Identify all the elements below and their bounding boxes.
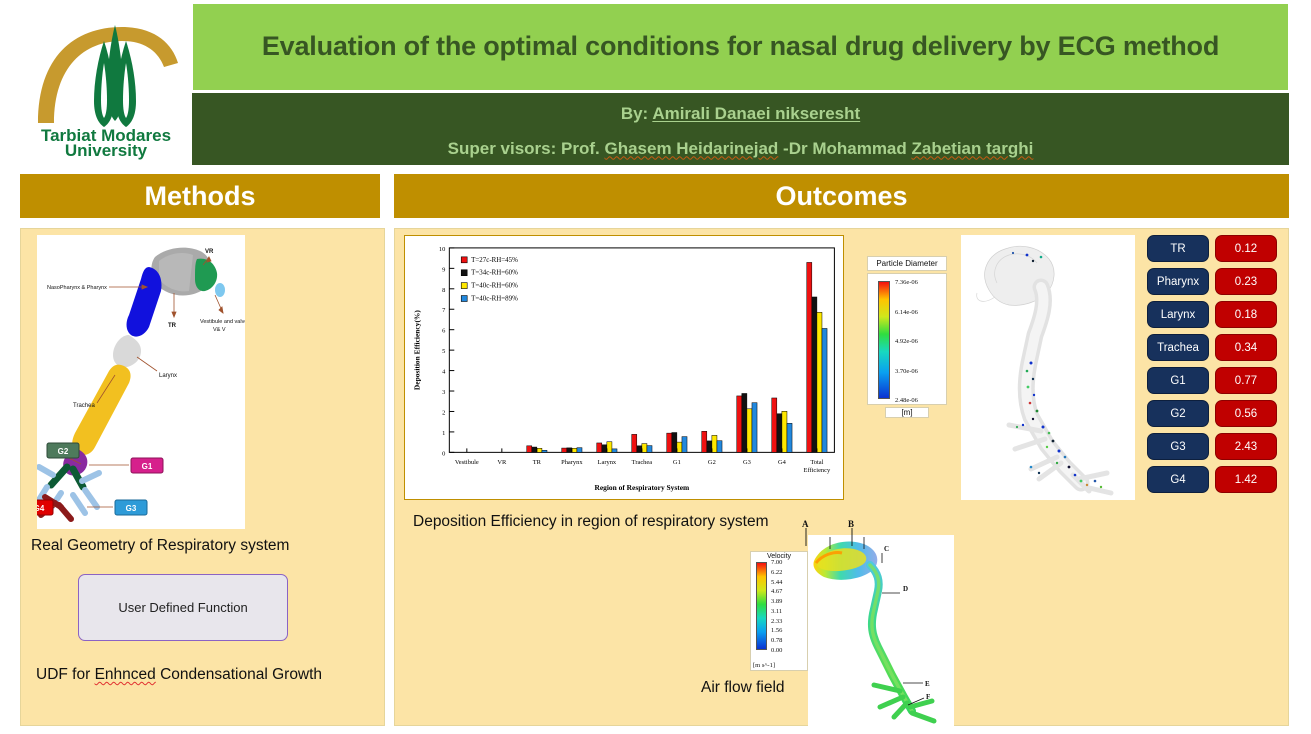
airflow-marker-b-label: B [848, 519, 854, 529]
particle-colorbar-tick: 4.92e-06 [895, 338, 918, 345]
x-axis-tick: Efficiency [804, 467, 831, 474]
table-row: G10.77 [1147, 367, 1281, 394]
table-row: G32.43 [1147, 433, 1281, 460]
airflow-field-figure: D E F C [808, 535, 954, 727]
legend-swatch [461, 270, 467, 276]
deposition-efficiency-caption: Deposition Efficiency in region of respi… [413, 513, 769, 531]
y-axis-tick: 1 [442, 430, 445, 437]
chart-bar [672, 433, 677, 453]
particle-deposition-figure [961, 235, 1135, 500]
table-cell-value: 0.34 [1215, 334, 1277, 361]
velocity-colorbar-gradient [756, 562, 767, 650]
label-g1: G1 [142, 462, 153, 471]
page-title: Evaluation of the optimal conditions for… [250, 32, 1231, 62]
x-axis-tick: G2 [708, 459, 716, 466]
airflow-caption: Air flow field [701, 679, 785, 697]
label-box-g3: G3 [115, 500, 147, 515]
table-row: Larynx0.18 [1147, 301, 1281, 328]
y-axis-tick: 2 [442, 409, 445, 416]
chart-bar [602, 445, 607, 453]
section-header-outcomes: Outcomes [394, 174, 1289, 218]
label-vestibule-1: Vestibule and valve [200, 319, 245, 325]
chart-bar [677, 442, 682, 452]
chart-bar [532, 447, 537, 452]
table-cell-region: TR [1147, 235, 1209, 262]
chart-bar [567, 448, 572, 452]
table-cell-value: 2.43 [1215, 433, 1277, 460]
airflow-marker-e: E [925, 680, 930, 688]
label-box-g2: G2 [47, 443, 79, 458]
label-vr: VR [205, 249, 214, 255]
table-cell-region: G2 [1147, 400, 1209, 427]
legend-label: T=40c-RH=89% [471, 295, 518, 303]
chart-bar [607, 442, 612, 453]
table-row: Pharynx0.23 [1147, 268, 1281, 295]
supervisor-name-1: Ghasem Heidarinejad [604, 139, 778, 158]
bottom-spacer [0, 728, 1311, 734]
particle-colorbar-tick: 7.36e-06 [895, 279, 918, 286]
velocity-colorbar: Velocity 7.006.225.444.673.893.112.331.5… [750, 551, 808, 671]
table-cell-value: 0.77 [1215, 367, 1277, 394]
supervisor-prefix: Super visors: Prof. [448, 139, 605, 158]
table-cell-value: 0.12 [1215, 235, 1277, 262]
chart-bar [807, 262, 812, 452]
chart-bar [667, 433, 672, 452]
section-header-methods: Methods [20, 174, 380, 218]
udf-box: User Defined Function [78, 574, 288, 641]
table-cell-value: 0.23 [1215, 268, 1277, 295]
velocity-colorbar-tick: 3.11 [771, 608, 782, 615]
label-g4: G4 [37, 504, 45, 513]
y-axis-tick: 10 [439, 246, 445, 253]
chart-bar [752, 403, 757, 453]
particle-colorbar-title: Particle Diameter [867, 256, 947, 271]
airflow-top-markers: A B [790, 518, 910, 548]
author-bar: By: Amirali Danaei nikseresht Super viso… [192, 93, 1289, 165]
methods-panel: NasoPharynx & Pharynx VR TR Vestibule an… [20, 228, 385, 726]
chart-bar [822, 328, 827, 452]
legend-label: T=27c-RH=45% [471, 256, 518, 264]
chart-bar [642, 444, 647, 453]
chart-bar [542, 450, 547, 452]
x-axis-tick: Larynx [598, 459, 617, 466]
chart-bar [787, 423, 792, 452]
chart-bar [637, 446, 642, 453]
particle-diameter-colorbar: Particle Diameter 7.36e-066.14e-064.92e-… [861, 256, 953, 431]
section-title-outcomes: Outcomes [775, 183, 907, 210]
particle-colorbar-body: 7.36e-066.14e-064.92e-063.70e-062.48e-06 [867, 273, 947, 405]
x-axis-tick: G3 [743, 459, 751, 466]
table-row: TR0.12 [1147, 235, 1281, 262]
author-name: Amirali Danaei nikseresht [652, 104, 860, 123]
chart-bar [742, 393, 747, 452]
chart-bar [647, 446, 652, 453]
deposition-results-table: TR0.12Pharynx0.23Larynx0.18Trachea0.34G1… [1147, 235, 1281, 500]
x-axis-tick: TR [533, 459, 542, 466]
particle-colorbar-tick: 3.70e-06 [895, 368, 918, 375]
chart-bar [577, 448, 582, 453]
geometry-caption: Real Geometry of Respiratory system [31, 537, 289, 555]
label-trachea: Trachea [73, 403, 95, 409]
y-axis-tick: 9 [442, 266, 445, 273]
chart-bar [562, 448, 567, 452]
x-axis-label: Region of Respiratory System [594, 483, 690, 492]
author-line: By: Amirali Danaei nikseresht [192, 104, 1289, 124]
velocity-colorbar-body: 7.006.225.444.673.893.112.331.560.780.00 [751, 560, 807, 660]
table-cell-region: Pharynx [1147, 268, 1209, 295]
velocity-colorbar-tick: 3.89 [771, 598, 782, 605]
deposition-3d-svg [961, 235, 1135, 500]
y-axis-label: Deposition Efficiency(%) [413, 310, 422, 390]
airflow-marker-f: F [926, 693, 930, 701]
velocity-colorbar-tick: 6.22 [771, 569, 782, 576]
x-axis-tick: G4 [778, 459, 787, 466]
table-row: Trachea0.34 [1147, 334, 1281, 361]
table-cell-region: Trachea [1147, 334, 1209, 361]
deposition-efficiency-chart: 012345678910Deposition Efficiency(%)Vest… [404, 235, 844, 500]
outcomes-panel: 012345678910Deposition Efficiency(%)Vest… [394, 228, 1289, 726]
table-row: G41.42 [1147, 466, 1281, 493]
chart-bar [572, 448, 577, 452]
y-axis-tick: 3 [442, 389, 445, 396]
label-g3: G3 [126, 504, 137, 513]
chart-bar [632, 434, 637, 452]
legend-label: T=34c-RH=60% [471, 269, 518, 277]
label-box-g1: G1 [131, 458, 163, 473]
velocity-colorbar-tick: 0.78 [771, 637, 782, 644]
x-axis-tick: Total [810, 459, 823, 466]
table-cell-value: 1.42 [1215, 466, 1277, 493]
label-tr: TR [168, 323, 177, 329]
table-cell-region: G3 [1147, 433, 1209, 460]
section-title-methods: Methods [145, 183, 256, 210]
university-logo: Tarbiat Modares University [20, 0, 192, 165]
chart-bar [707, 441, 712, 452]
legend-label: T=40c-RH=60% [471, 282, 518, 290]
udf-caption-post: Condensational Growth [156, 666, 322, 683]
logo-graphic: Tarbiat Modares University [26, 5, 186, 160]
velocity-colorbar-tick: 4.67 [771, 588, 782, 595]
udf-caption-misspelled: Enhnced [95, 666, 156, 683]
legend-swatch [461, 296, 467, 302]
chart-bar [682, 437, 687, 453]
table-row: G20.56 [1147, 400, 1281, 427]
chart-bar [537, 448, 542, 452]
chart-bar [772, 398, 777, 452]
table-cell-value: 0.56 [1215, 400, 1277, 427]
particle-colorbar-unit: [m] [885, 407, 929, 418]
logo-line2: University [65, 141, 148, 160]
table-cell-value: 0.18 [1215, 301, 1277, 328]
chart-bar [782, 411, 787, 452]
y-axis-tick: 0 [442, 450, 445, 457]
velocity-colorbar-unit: [m s^-1] [753, 662, 775, 669]
chart-bar [777, 414, 782, 453]
particle-colorbar-tick: 6.14e-06 [895, 309, 918, 316]
chart-bar [527, 446, 532, 453]
supervisor-separator: -Dr Mohammad [778, 139, 911, 158]
supervisor-name-2: Zabetian targhi [912, 139, 1034, 158]
chart-bar [817, 312, 822, 452]
x-axis-tick: VR [497, 459, 507, 466]
poster-title-bar: Evaluation of the optimal conditions for… [192, 3, 1289, 91]
airflow-marker-a-label: A [802, 519, 809, 529]
bar-chart-svg: 012345678910Deposition Efficiency(%)Vest… [405, 236, 843, 499]
legend-swatch [461, 257, 467, 263]
udf-caption: UDF for Enhnced Condensational Growth [36, 666, 322, 684]
udf-box-label: User Defined Function [118, 600, 247, 615]
velocity-colorbar-tick: 5.44 [771, 579, 782, 586]
label-nasopharynx: NasoPharynx & Pharynx [47, 285, 107, 291]
chart-bar [717, 441, 722, 453]
velocity-colorbar-tick: 2.33 [771, 618, 782, 625]
table-cell-region: G4 [1147, 466, 1209, 493]
supervisor-line: Super visors: Prof. Ghasem Heidarinejad … [192, 139, 1289, 159]
velocity-colorbar-tick: 1.56 [771, 627, 782, 634]
udf-caption-pre: UDF for [36, 666, 95, 683]
velocity-colorbar-tick: 7.00 [771, 559, 782, 566]
velocity-colorbar-tick: 0.00 [771, 647, 782, 654]
airflow-marker-d: D [903, 585, 908, 593]
label-box-g4: G4 [37, 500, 53, 515]
geometry-diagram: NasoPharynx & Pharynx VR TR Vestibule an… [37, 235, 245, 529]
chart-bar [597, 443, 602, 452]
chart-bar [737, 396, 742, 452]
label-larynx: Larynx [159, 373, 177, 379]
x-axis-tick: Vestibule [455, 459, 479, 466]
chart-bar [702, 431, 707, 452]
particle-colorbar-tick: 2.48e-06 [895, 397, 918, 404]
x-axis-tick: Pharynx [561, 459, 583, 466]
label-vestibule-2: V& V [213, 327, 226, 333]
particle-colorbar-gradient [878, 281, 890, 399]
chart-bar [747, 409, 752, 453]
y-axis-tick: 5 [442, 348, 445, 355]
x-axis-tick: G1 [673, 459, 681, 466]
poster-root: Tarbiat Modares University Evaluation of… [0, 0, 1311, 734]
author-prefix: By: [621, 104, 653, 123]
chart-bar [712, 435, 717, 452]
table-cell-region: Larynx [1147, 301, 1209, 328]
x-axis-tick: Trachea [632, 459, 653, 466]
chart-bar [612, 449, 617, 452]
table-cell-region: G1 [1147, 367, 1209, 394]
y-axis-tick: 8 [442, 287, 445, 294]
airflow-svg: D E F C [808, 535, 954, 727]
label-g2: G2 [58, 447, 69, 456]
chart-bar [812, 297, 817, 452]
respiratory-geometry-figure: NasoPharynx & Pharynx VR TR Vestibule an… [37, 235, 245, 529]
legend-swatch [461, 283, 467, 289]
